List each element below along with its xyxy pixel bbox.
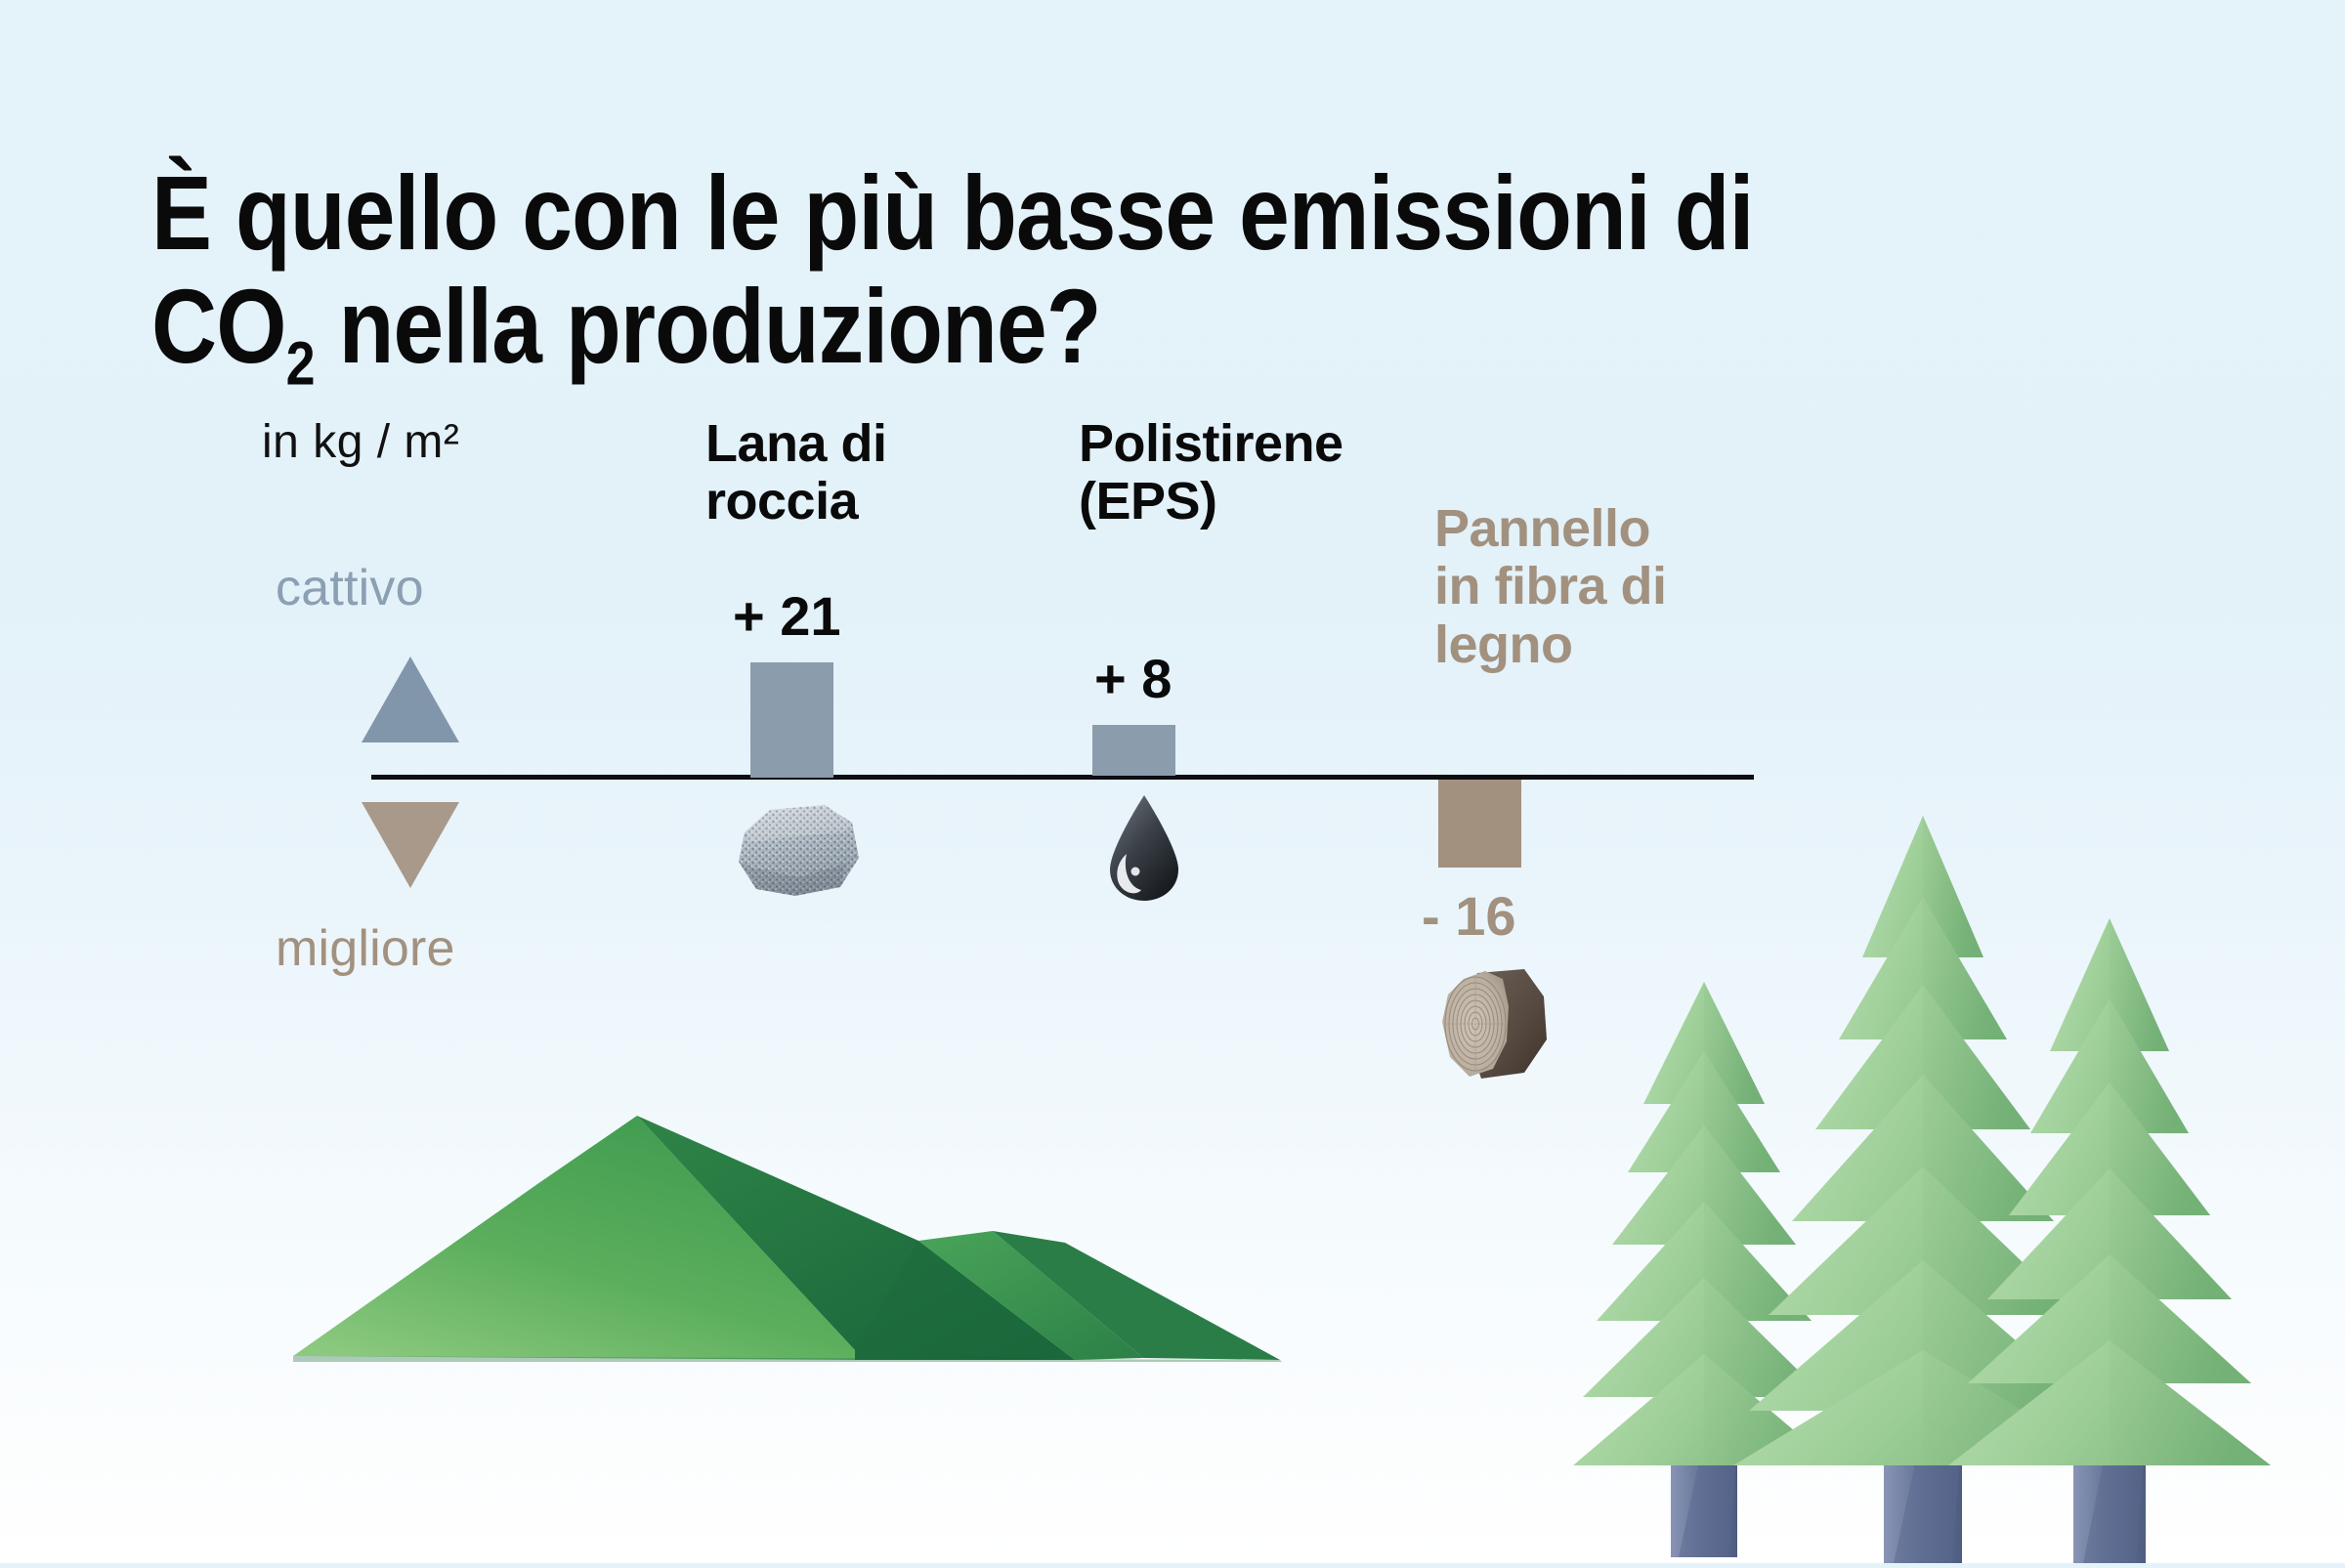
bar-polistirene: [1092, 725, 1175, 776]
pine-tree: [1573, 982, 1835, 1557]
series-value-polistirene: + 8: [1094, 647, 1172, 710]
green-hill: [293, 1094, 1407, 1382]
series-label-polistirene: Polistirene (EPS): [1079, 415, 1343, 531]
series-label-line: Pannello: [1434, 500, 1667, 558]
title-line-2-rest: nella produzione?: [315, 267, 1101, 385]
wood-log-icon: [1434, 967, 1552, 1087]
series-value-pannello-fibra-legno: - 16: [1422, 884, 1516, 948]
title-line-2: CO2 nella produzione?: [151, 270, 1916, 383]
arrow-up-icon: [362, 657, 459, 742]
series-label-line: roccia: [705, 473, 887, 530]
series-label-line: (EPS): [1079, 473, 1343, 530]
series-label-line: Lana di: [705, 415, 887, 473]
series-label-pannello-fibra-legno: Pannello in fibra di legno: [1434, 500, 1667, 674]
series-label-line: Polistirene: [1079, 415, 1343, 473]
tree-group: [1573, 782, 2345, 1568]
rock-icon: [731, 799, 868, 907]
title-co-text: CO: [151, 267, 286, 385]
scale-label-bad: cattivo: [276, 559, 424, 617]
series-label-line: in fibra di: [1434, 558, 1667, 615]
page-title: È quello con le più basse emissioni di C…: [151, 156, 1916, 382]
series-value-lana-di-roccia: + 21: [733, 584, 841, 648]
series-label-lana-di-roccia: Lana di roccia: [705, 415, 887, 531]
arrow-down-icon: [362, 802, 459, 888]
zero-baseline: [371, 775, 1754, 780]
bar-pannello-fibra-legno: [1438, 780, 1521, 868]
title-line-1: È quello con le più basse emissioni di: [151, 156, 1916, 270]
bar-lana-di-roccia: [750, 662, 833, 778]
infographic-canvas: È quello con le più basse emissioni di C…: [0, 0, 2345, 1563]
title-co2-subscript: 2: [286, 330, 315, 399]
oil-drop-icon: [1106, 793, 1182, 908]
unit-label: in kg / m²: [262, 415, 459, 469]
scale-label-good: migliore: [276, 919, 455, 978]
series-label-line: legno: [1434, 616, 1667, 674]
